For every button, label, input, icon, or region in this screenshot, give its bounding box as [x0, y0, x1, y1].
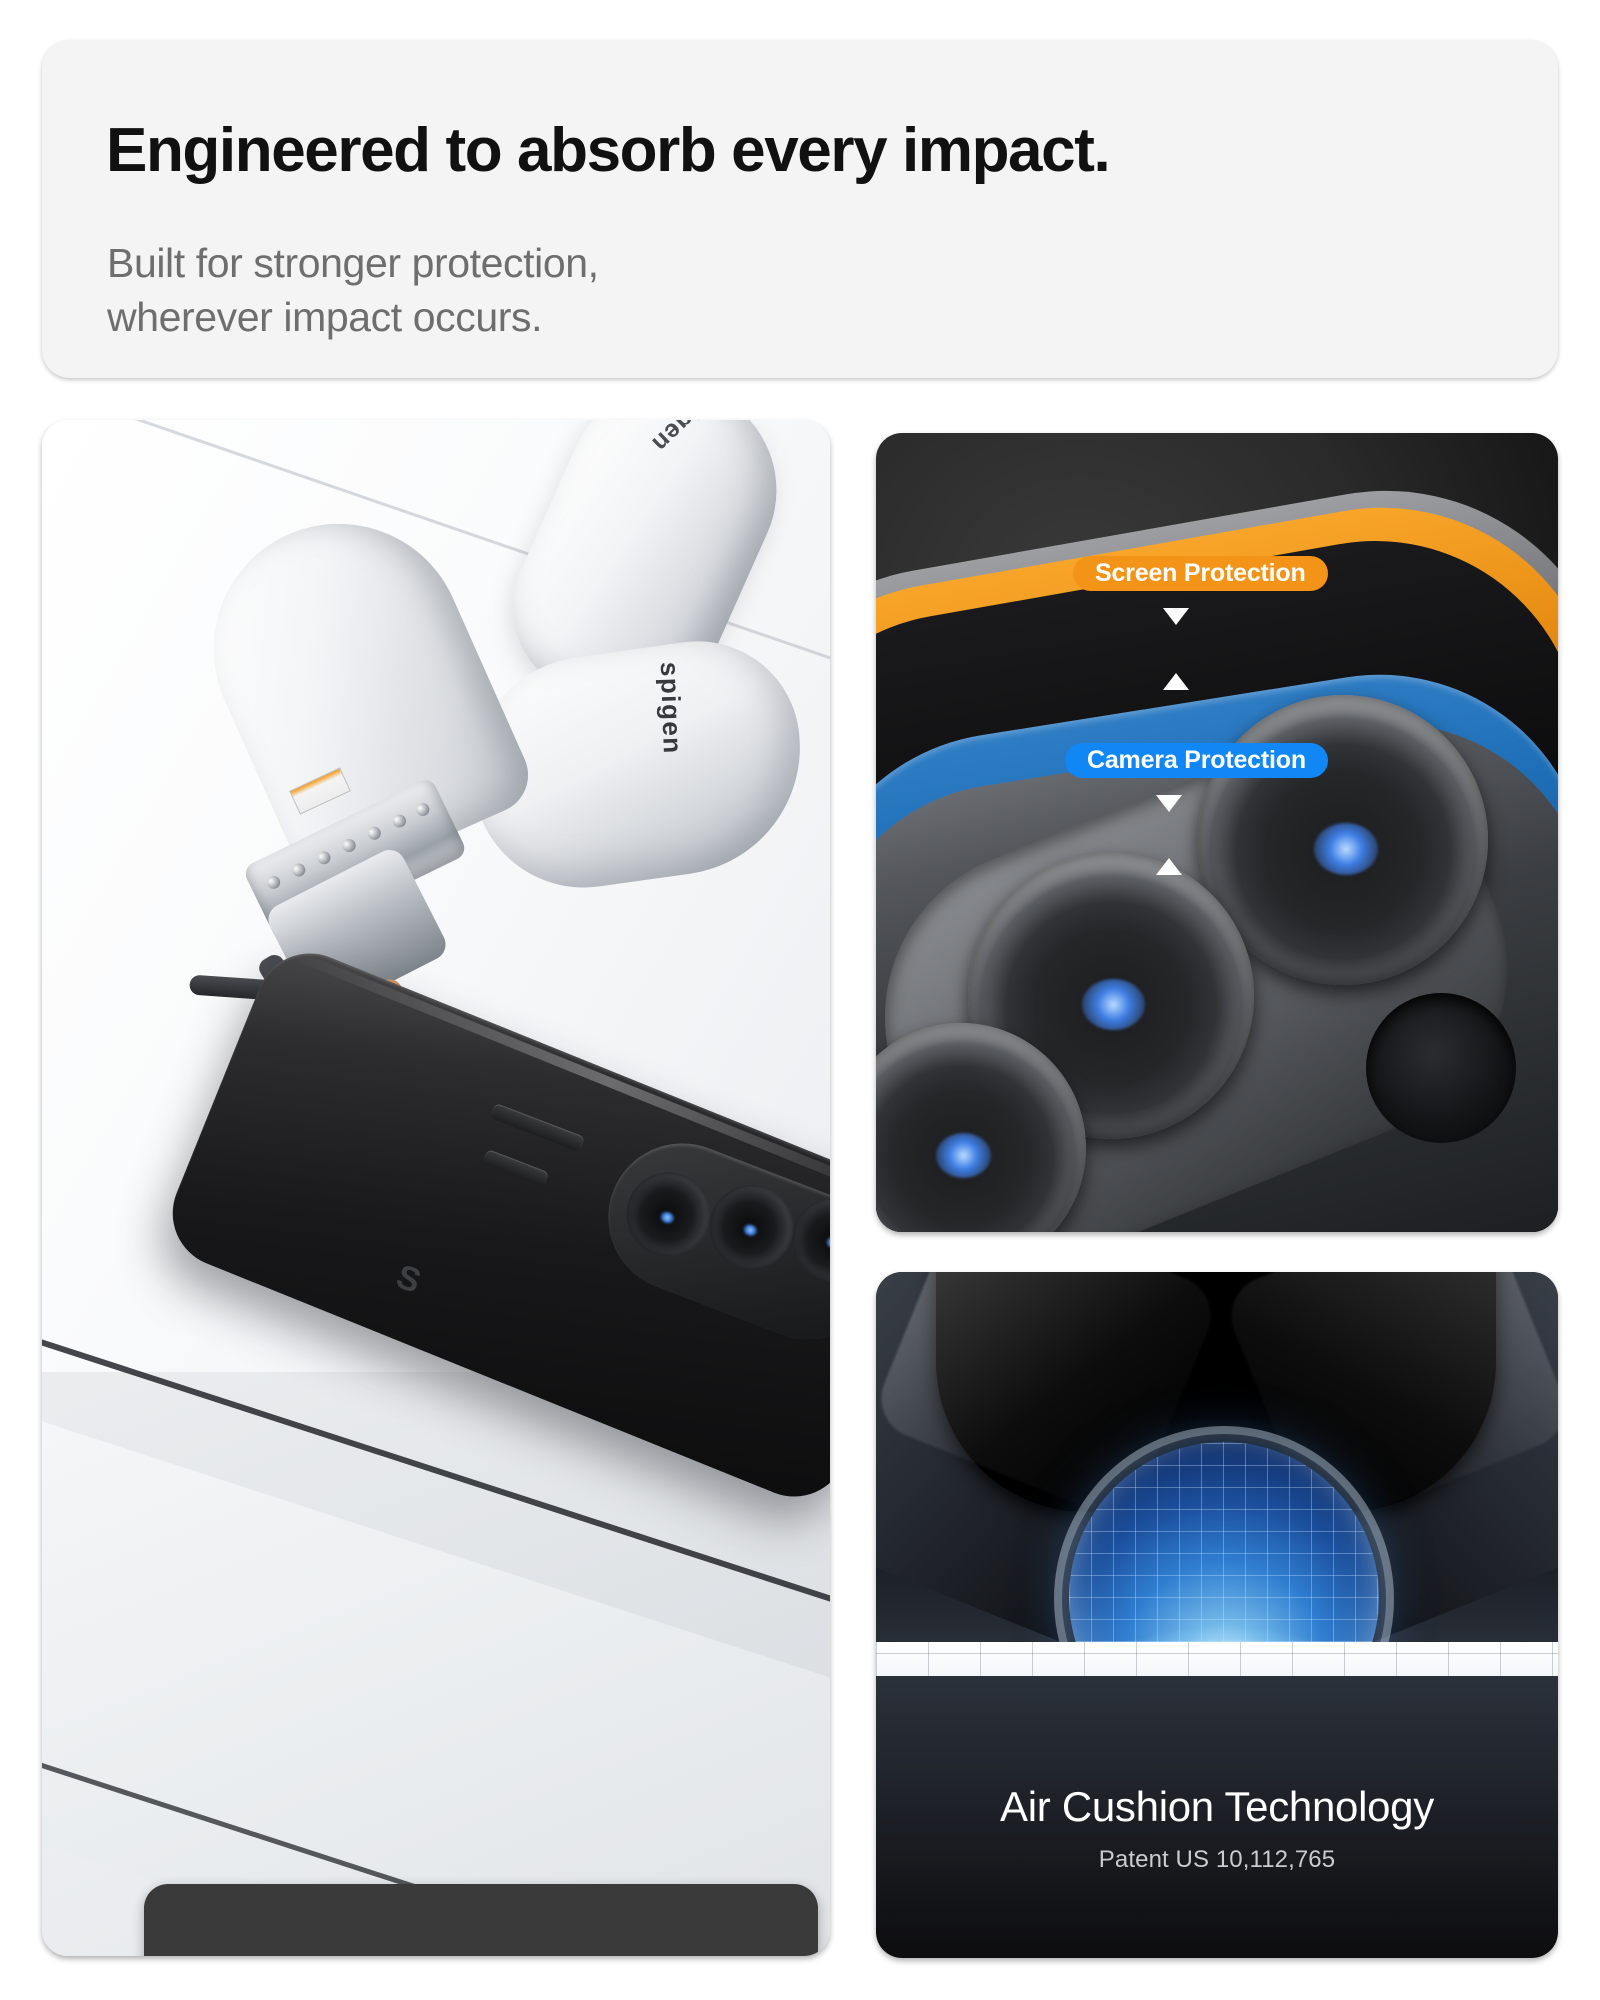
air-cushion-caption: Air Cushion Technology Patent US 10,112,…: [876, 1784, 1558, 1874]
page-subtitle-line-2: wherever impact occurs.: [107, 290, 599, 344]
air-cushion-title: Air Cushion Technology: [876, 1784, 1558, 1830]
impact-surface: [876, 1642, 1558, 1676]
camera-protection-arrow-up-icon: [1156, 858, 1182, 875]
flash-cutout: [1366, 993, 1516, 1143]
screen-protection-arrow-down-icon: [1163, 608, 1189, 625]
flange-bolt: [340, 837, 357, 854]
impact-surface-grid: [876, 1642, 1558, 1676]
screen-protection-arrow-up-icon: [1163, 673, 1189, 690]
lens-glint: [1314, 823, 1378, 875]
page-subtitle-line-1: Built for stronger protection,: [107, 236, 599, 290]
camera-lens: [697, 1173, 806, 1282]
air-cushion-illustration: [876, 1272, 1558, 1676]
camera-protection-badge: Camera Protection: [1065, 743, 1328, 778]
flange-bolt: [290, 861, 307, 878]
lens-glint: [825, 1235, 830, 1250]
camera-protection-arrow-down-icon: [1156, 795, 1182, 812]
flange-bolt: [391, 812, 408, 829]
flange-bolt: [414, 801, 431, 818]
page-subtitle: Built for stronger protection, wherever …: [107, 236, 599, 344]
spigen-logo-arm-upper: spigen: [645, 420, 727, 458]
protection-diagram-panel: Screen Protection Camera Protection: [876, 433, 1558, 1232]
spigen-logo-arm-elbow: spigen: [654, 661, 688, 755]
flange-bolt: [315, 849, 332, 866]
lens-glint: [1082, 979, 1145, 1030]
air-cushion-patent: Patent US 10,112,765: [876, 1846, 1558, 1874]
air-cushion-panel: Air Cushion Technology Patent US 10,112,…: [876, 1272, 1558, 1958]
page-title: Engineered to absorb every impact.: [106, 118, 1109, 183]
lens-glint: [659, 1210, 675, 1225]
screen-protection-badge: Screen Protection: [1073, 556, 1328, 591]
flange-bolt: [366, 825, 383, 842]
lens-glint: [936, 1133, 991, 1178]
flange-bolt: [265, 874, 282, 891]
header-card: Engineered to absorb every impact. Built…: [42, 40, 1558, 378]
camera-lens: [614, 1160, 723, 1269]
feature-page: Engineered to absorb every impact. Built…: [0, 0, 1600, 2000]
robot-arm-photo-panel: spigen spigen: [42, 420, 830, 1956]
lens-glint: [742, 1223, 758, 1238]
shock-resistant-card: Shock-resistant case design. Full protec…: [144, 1884, 818, 1956]
